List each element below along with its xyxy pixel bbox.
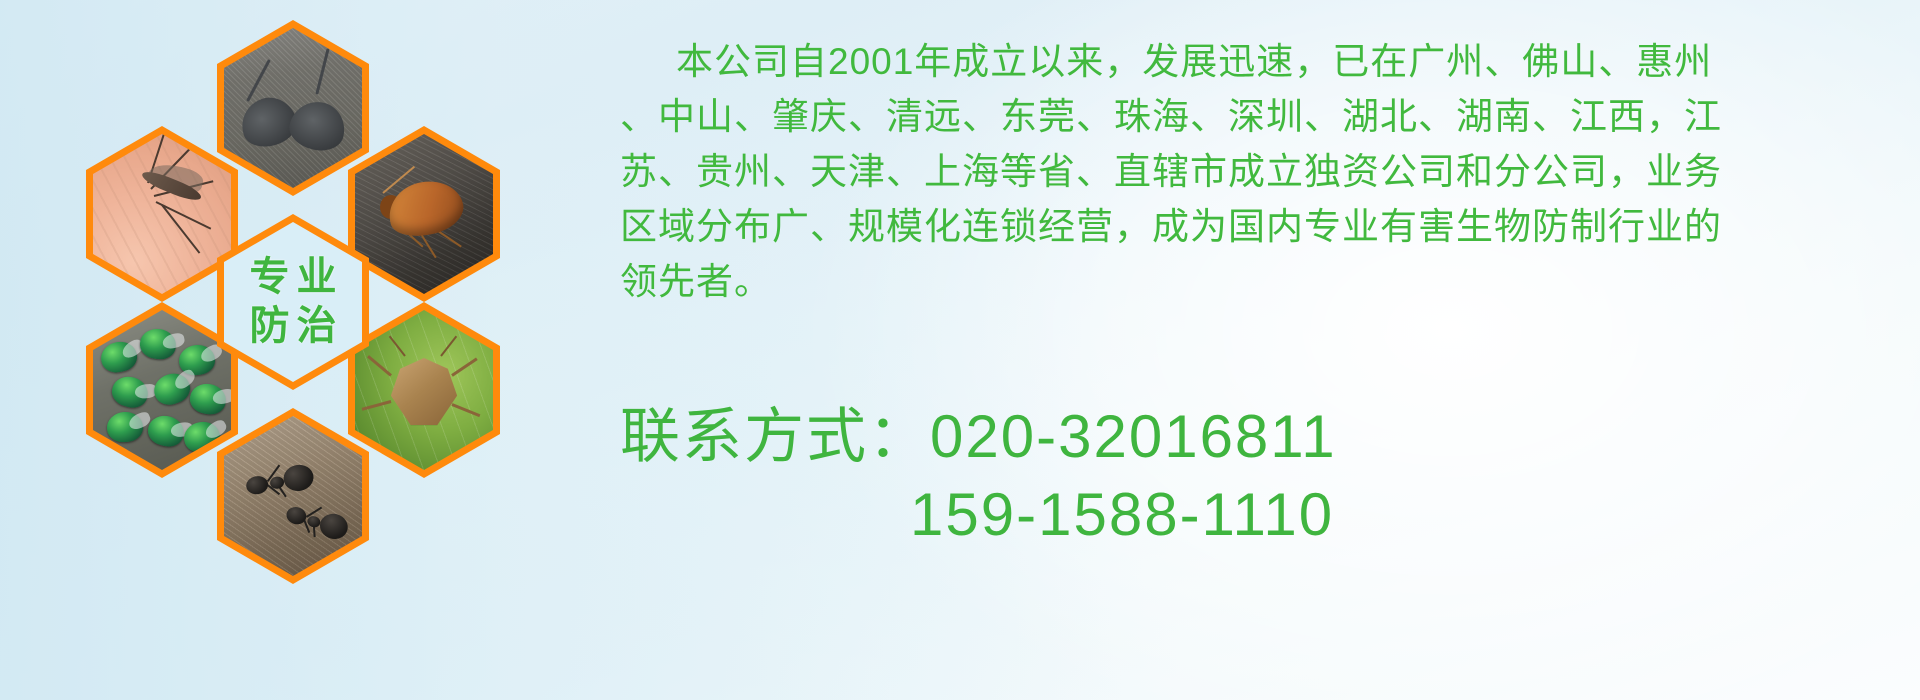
intro-paragraph: 本公司自2001年成立以来，发展迅速，已在广州、佛山、惠州 、中山、肇庆、清远、…: [620, 34, 1890, 309]
hex-inner-mosquito: [93, 134, 231, 294]
mosquito-photo: [93, 134, 231, 294]
contact-line-mobile[interactable]: 159-1588-1110: [620, 476, 1920, 554]
intro-line-3: 苏、贵州、天津、上海等省、直辖市成立独资公司和分公司，业务: [620, 144, 1890, 199]
cockroach-photo: [355, 134, 493, 294]
intro-line-2: 、中山、肇庆、清远、东莞、珠海、深圳、湖北、湖南、江西，江: [620, 89, 1890, 144]
hex-inner-rats: [224, 28, 362, 188]
hex-cell-rats: [217, 20, 369, 196]
hex-cell-mosquito: [86, 126, 238, 302]
hex-inner-ants: [224, 416, 362, 576]
badge-line-2: 防治: [243, 302, 344, 351]
hex-cell-ants: [217, 408, 369, 584]
intro-line-4: 区域分布广、规模化连锁经营，成为国内专业有害生物防制行业的: [620, 199, 1890, 254]
hex-inner-flies: [93, 310, 231, 470]
promo-banner: 专业 防治 本公司自2001年成立以来，发展迅速，已在广州、佛山、惠州 、中山、…: [0, 0, 1920, 700]
hex-inner-cockroach: [355, 134, 493, 294]
intro-line-1: 本公司自2001年成立以来，发展迅速，已在广州、佛山、惠州: [620, 34, 1890, 89]
contact-block: 联系方式：020-32016811 159-1588-1110: [620, 398, 1920, 554]
hex-inner-badge: 专业 防治: [224, 222, 362, 382]
intro-line-5: 领先者。: [620, 254, 1890, 309]
hex-cell-flies: [86, 302, 238, 478]
hex-cell-cockroach: [348, 126, 500, 302]
stinkbug-photo: [355, 310, 493, 470]
hex-inner-stinkbug: [355, 310, 493, 470]
hex-cell-stinkbug: [348, 302, 500, 478]
contact-line-landline[interactable]: 联系方式：020-32016811: [620, 398, 1920, 476]
flies-photo: [93, 310, 231, 470]
hex-cell-badge: 专业 防治: [217, 214, 369, 390]
badge-line-1: 专业: [243, 253, 344, 302]
rats-photo: [224, 28, 362, 188]
ants-photo: [224, 416, 362, 576]
honeycomb-collage: 专业 防治: [86, 18, 586, 578]
